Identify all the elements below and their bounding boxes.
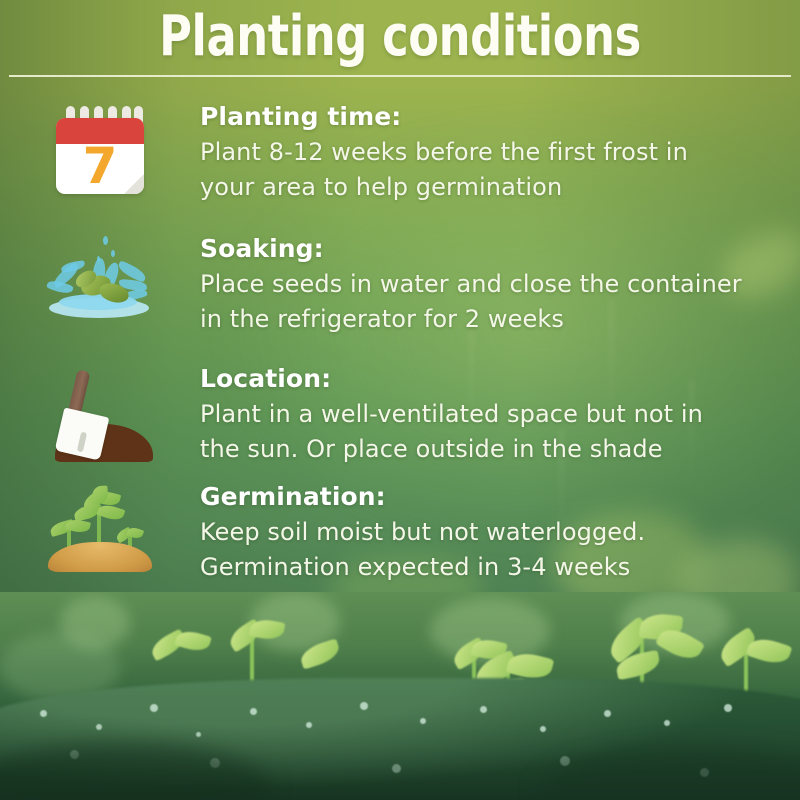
section-germination: Germination: Keep soil moist but not wat… xyxy=(0,480,800,585)
shovel-in-soil-icon xyxy=(41,366,159,462)
seedlings-sprouting-icon xyxy=(40,484,160,576)
text-cell: Location: Plant in a well-ventilated spa… xyxy=(200,362,800,467)
section-body-line: in the refrigerator for 2 weeks xyxy=(200,302,790,337)
section-location: Location: Plant in a well-ventilated spa… xyxy=(0,362,800,467)
water-splash-seeds-icon xyxy=(41,236,159,326)
icon-cell xyxy=(0,480,200,576)
page-title: Planting conditions xyxy=(80,6,720,68)
section-body-line: your area to help germination xyxy=(200,170,790,205)
section-soaking: Soaking: Place seeds in water and close … xyxy=(0,232,800,337)
calendar-day-number: 7 xyxy=(56,138,144,194)
section-heading: Soaking: xyxy=(200,232,794,266)
text-cell: Germination: Keep soil moist but not wat… xyxy=(200,480,800,585)
text-cell: Planting time: Plant 8-12 weeks before t… xyxy=(200,100,800,205)
icon-cell xyxy=(0,362,200,462)
section-planting-time: 7 Planting time: Plant 8-12 weeks before… xyxy=(0,100,800,205)
section-body-line: Plant 8-12 weeks before the first frost … xyxy=(200,135,790,170)
section-body-line: Place seeds in water and close the conta… xyxy=(200,267,790,302)
section-heading: Germination: xyxy=(200,480,794,514)
section-heading: Planting time: xyxy=(200,100,794,134)
section-body-line: Keep soil moist but not waterlogged. xyxy=(200,515,790,550)
calendar-icon: 7 xyxy=(52,104,148,196)
section-body-line: the sun. Or place outside in the shade xyxy=(200,432,790,467)
icon-cell xyxy=(0,232,200,326)
title-divider xyxy=(9,75,791,77)
planting-conditions-infographic: Planting conditions 7 Planting time: Pla… xyxy=(0,0,800,800)
section-body-line: Plant in a well-ventilated space but not… xyxy=(200,397,790,432)
text-cell: Soaking: Place seeds in water and close … xyxy=(200,232,800,337)
icon-cell: 7 xyxy=(0,100,200,196)
section-heading: Location: xyxy=(200,362,794,396)
footer-photo-seedlings xyxy=(0,592,800,800)
section-body-line: Germination expected in 3-4 weeks xyxy=(200,550,790,585)
